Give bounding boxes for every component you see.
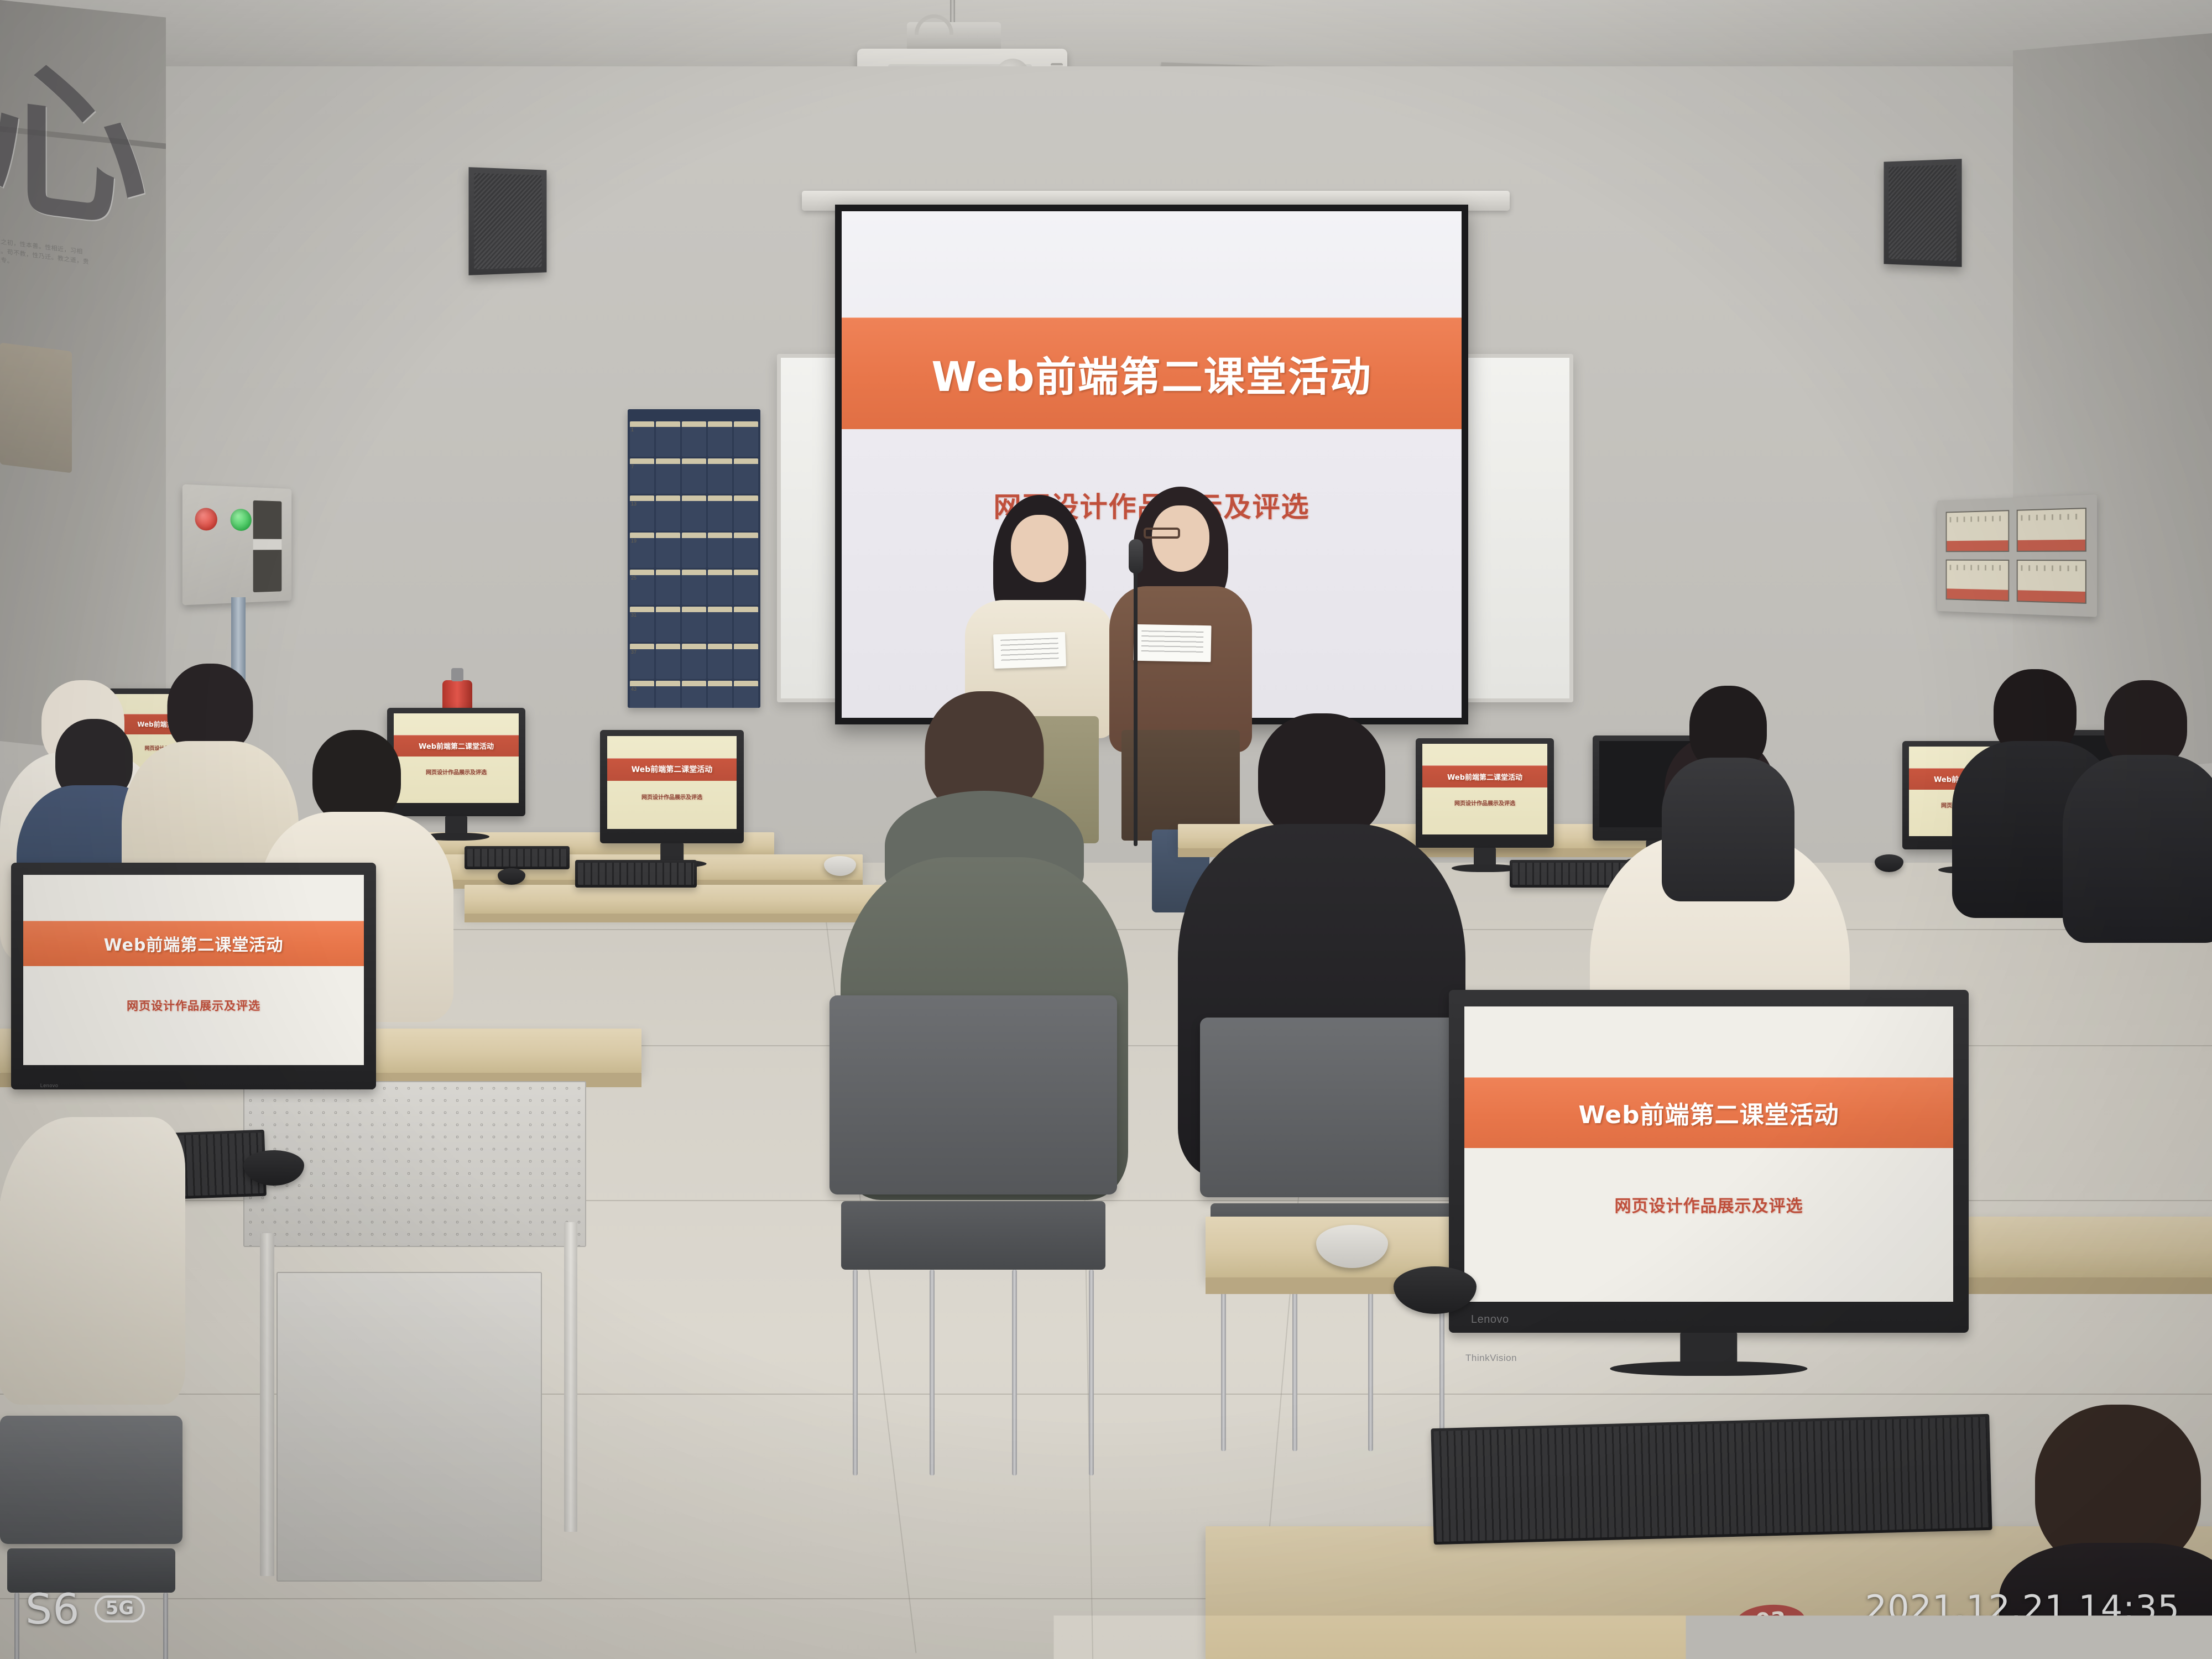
keyboard-foreground-right[interactable]: [1431, 1414, 1992, 1545]
slide-on-monitor: Web前端第二课堂活动 网页设计作品展示及评选: [23, 875, 364, 1065]
pocket-slot: [656, 495, 680, 531]
pocket-slot: [734, 681, 758, 708]
notice-stripe: [2018, 540, 2085, 551]
classroom-photo: 心 人之初，性本善。性相近，习相远。苟不教，性乃迁。教之道，贵以专。 1 7 1…: [0, 0, 2212, 1659]
speaker-grill: [1888, 165, 1956, 261]
pocket-slot: [656, 570, 680, 605]
pocket-slot: 43: [630, 681, 654, 708]
pocket-slot: [708, 533, 732, 568]
pocket-slot: [682, 570, 706, 605]
pocket-slot: [734, 458, 758, 494]
presenter-face: [1011, 515, 1068, 582]
pocket-slot: 13: [630, 495, 654, 531]
pocket-slot: [656, 607, 680, 642]
pocket-slot: [734, 644, 758, 679]
pocket-slot: [656, 458, 680, 494]
power-control-box[interactable]: [182, 484, 291, 606]
pocket-slot: [682, 421, 706, 457]
pocket-slot: [708, 607, 732, 642]
slide-on-monitor: Web前端第二课堂活动 网页设计作品展示及评选: [607, 736, 737, 829]
slide-title: Web前端第二课堂活动: [931, 344, 1371, 403]
indicator-lamp-green: [231, 509, 252, 531]
pocket-slot: [656, 681, 680, 708]
monitor-front-right[interactable]: Web前端第二课堂活动 网页设计作品展示及评选 Lenovo ThinkVisi…: [1449, 990, 1969, 1333]
slide-subtitle: 网页设计作品展示及评选: [641, 792, 702, 829]
keyboard-row2-b[interactable]: [465, 846, 570, 869]
notice-text-lines: [1950, 515, 2005, 522]
wall-notice-panel: [1937, 494, 2097, 617]
indicator-lamp-red: [195, 508, 217, 531]
pocket-slot: [656, 421, 680, 457]
wall-pocket-organizer: 1 7 13 19 25 31 37 43: [628, 409, 760, 708]
pocket-slot: [682, 458, 706, 494]
slide-title: Web前端第二课堂活动: [632, 764, 712, 775]
circuit-breaker-switch[interactable]: [253, 500, 282, 592]
wall-speaker-left: [468, 167, 546, 275]
presenter-face: [1152, 505, 1209, 572]
pocket-slot: [734, 495, 758, 531]
watermark-network-badge: 5G: [95, 1595, 145, 1623]
notice-stripe: [1947, 540, 2008, 551]
notice-stripe: [1947, 589, 2008, 601]
pocket-slot: [708, 495, 732, 531]
pocket-slot: [708, 421, 732, 457]
presenter-script-paper: [993, 632, 1066, 669]
student-right-d: [2068, 680, 2212, 935]
desk-cpu-cabinet-left: [276, 1272, 542, 1582]
pocket-slot: [682, 607, 706, 642]
monitor-brand-label: Lenovo: [40, 1083, 59, 1088]
pocket-slot: [682, 644, 706, 679]
student-right-b: [1665, 686, 1792, 896]
slide-top-margin: [842, 211, 1462, 317]
notice-text-lines: [2021, 514, 2081, 521]
poster-figure-illustration: [0, 343, 72, 473]
wall-calligraphy-poster: 心 人之初，性本善。性相近，习相远。苟不教，性乃迁。教之道，贵以专。: [0, 0, 100, 322]
calligraphy-glyph: 心: [0, 53, 147, 239]
pocket-slot: 25: [630, 570, 654, 605]
notice-stripe: [2018, 590, 2085, 602]
notice-text-lines: [1950, 565, 2005, 571]
pocket-slot: [656, 644, 680, 679]
notice-slot: [1946, 560, 2010, 602]
desk-leg-left-2: [564, 1222, 577, 1532]
slide-title: Web前端第二课堂活动: [104, 931, 284, 956]
notice-slot: [2017, 508, 2086, 552]
chair-center-left[interactable]: [830, 995, 1117, 1338]
pocket-slot: 1: [630, 421, 654, 457]
presenter-script-paper: [1133, 624, 1211, 662]
right-wall: [2013, 33, 2212, 780]
notice-slot: [2017, 560, 2086, 604]
slide-title-band: Web前端第二课堂活动: [842, 317, 1462, 429]
slide-subtitle: 网页设计作品展示及评选: [1615, 1192, 1803, 1302]
microphone-icon: [1129, 539, 1143, 573]
pocket-slot: [656, 533, 680, 568]
pocket-slot: 31: [630, 607, 654, 642]
pocket-slot: 37: [630, 644, 654, 679]
watermark-model: S6: [25, 1584, 80, 1634]
keyboard-row2-a[interactable]: [575, 860, 697, 888]
pocket-slot: [734, 533, 758, 568]
monitor-submodel-label: ThinkVision: [1465, 1353, 1517, 1364]
monitor-brand-label: Lenovo: [1471, 1313, 1509, 1326]
student-foreground-left: [0, 1117, 182, 1405]
camera-watermark: S6 5G: [25, 1584, 145, 1634]
pocket-slot: 19: [630, 533, 654, 568]
pocket-slot: [708, 681, 732, 708]
wall-speaker-right: [1884, 159, 1961, 267]
notice-slot: [1946, 510, 2010, 552]
pocket-slot: [708, 644, 732, 679]
monitor-row2-c[interactable]: Web前端第二课堂活动 网页设计作品展示及评选: [600, 730, 744, 843]
slide-subtitle: 网页设计作品展示及评选: [127, 997, 260, 1065]
pocket-slot: 7: [630, 458, 654, 494]
pocket-slot: [734, 421, 758, 457]
microphone-stand: [1134, 559, 1138, 846]
pocket-slot: [734, 570, 758, 605]
pocket-slot: [734, 607, 758, 642]
slide-title: Web前端第二课堂活动: [1578, 1095, 1839, 1130]
speaker-grill: [474, 173, 541, 269]
desk-leg-left: [260, 1233, 274, 1576]
glasses-icon: [1144, 528, 1180, 539]
monitor-front-left[interactable]: Web前端第二课堂活动 网页设计作品展示及评选 Lenovo: [11, 863, 376, 1089]
pocket-slot: [708, 458, 732, 494]
pocket-slot: [708, 570, 732, 605]
notice-text-lines: [2021, 565, 2081, 571]
pocket-slot: [682, 495, 706, 531]
slide-on-monitor: Web前端第二课堂活动 网页设计作品展示及评选: [1464, 1006, 1953, 1302]
timestamp-overlay: 2021.12.21 14:35: [1865, 1588, 2180, 1628]
pocket-slot: [682, 533, 706, 568]
desk-row2-left-front: [465, 885, 885, 914]
pocket-slot: [682, 681, 706, 708]
